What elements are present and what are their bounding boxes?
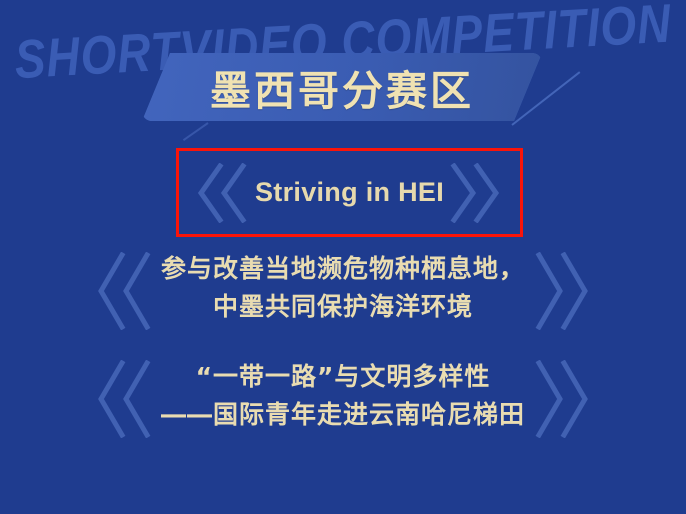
banner-title: 墨西哥分赛区 (142, 53, 542, 121)
entry-line: “一带一路”与文明多样性 (0, 358, 686, 396)
entry-title-marine: 参与改善当地濒危物种栖息地， 中墨共同保护海洋环境 (0, 250, 686, 326)
region-banner: 墨西哥分赛区 (142, 53, 542, 121)
entry-title-belt-road: “一带一路”与文明多样性 ――国际青年走进云南哈尼梯田 (0, 358, 686, 434)
banner-accent-line-left (183, 122, 209, 141)
entry-line: 参与改善当地濒危物种栖息地， (0, 250, 686, 288)
highlight-box[interactable] (176, 148, 523, 237)
entry-line: 中墨共同保护海洋环境 (0, 288, 686, 326)
entry-line: ――国际青年走进云南哈尼梯田 (0, 396, 686, 434)
poster-slide: SHORTVIDEO COMPETITION 墨西哥分赛区 Striving i… (0, 0, 686, 514)
